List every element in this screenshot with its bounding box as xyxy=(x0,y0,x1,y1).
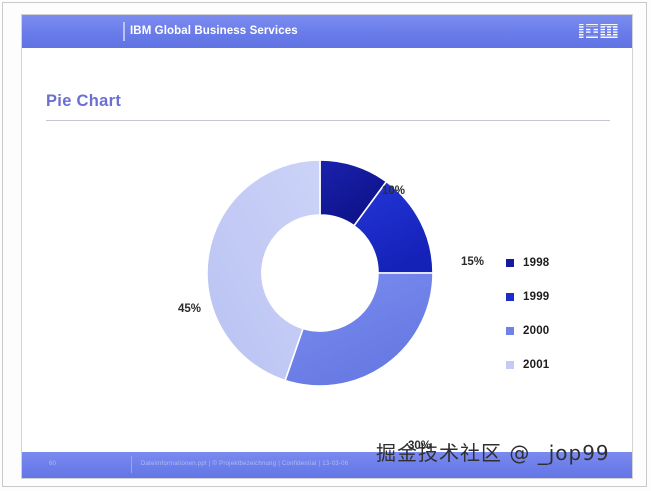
footer-page-number: 60 xyxy=(49,461,56,467)
legend-item-1999: 1999 xyxy=(506,280,601,314)
legend-item-1998: 1998 xyxy=(506,246,601,280)
slide-header: IBM Global Business Services xyxy=(22,15,632,48)
legend-label-1999: 1999 xyxy=(523,291,549,303)
slide-body: Pie Chart xyxy=(22,48,632,452)
header-divider xyxy=(123,22,125,41)
page-title: Pie Chart xyxy=(46,92,121,111)
legend-swatch-icon xyxy=(506,293,514,301)
title-underline-rule xyxy=(46,120,610,121)
legend-swatch-icon xyxy=(506,259,514,267)
donut-segment-2000 xyxy=(285,273,433,386)
presentation-slide: IBM Global Business Services xyxy=(22,15,632,478)
footer-text: Dateiinformationen.ppt | © Projektbezeic… xyxy=(141,461,348,467)
legend-item-2001: 2001 xyxy=(506,348,601,382)
pie-label-1998: 10% xyxy=(382,185,405,197)
legend-label-2001: 2001 xyxy=(523,359,549,371)
legend-label-2000: 2000 xyxy=(523,325,549,337)
screenshot-root: IBM Global Business Services xyxy=(0,0,651,491)
footer-divider xyxy=(131,456,132,473)
watermark-text: 掘金技术社区 @ _jop99 xyxy=(376,437,610,466)
legend-item-2000: 2000 xyxy=(506,314,601,348)
ibm-logo-icon xyxy=(578,21,622,41)
pie-label-2001: 45% xyxy=(178,303,201,315)
header-title: IBM Global Business Services xyxy=(130,25,298,37)
pie-label-1999: 15% xyxy=(461,256,484,268)
legend-swatch-icon xyxy=(506,361,514,369)
legend-label-1998: 1998 xyxy=(523,257,549,269)
legend-swatch-icon xyxy=(506,327,514,335)
chart-legend: 1998 1999 2000 2001 xyxy=(506,246,601,382)
